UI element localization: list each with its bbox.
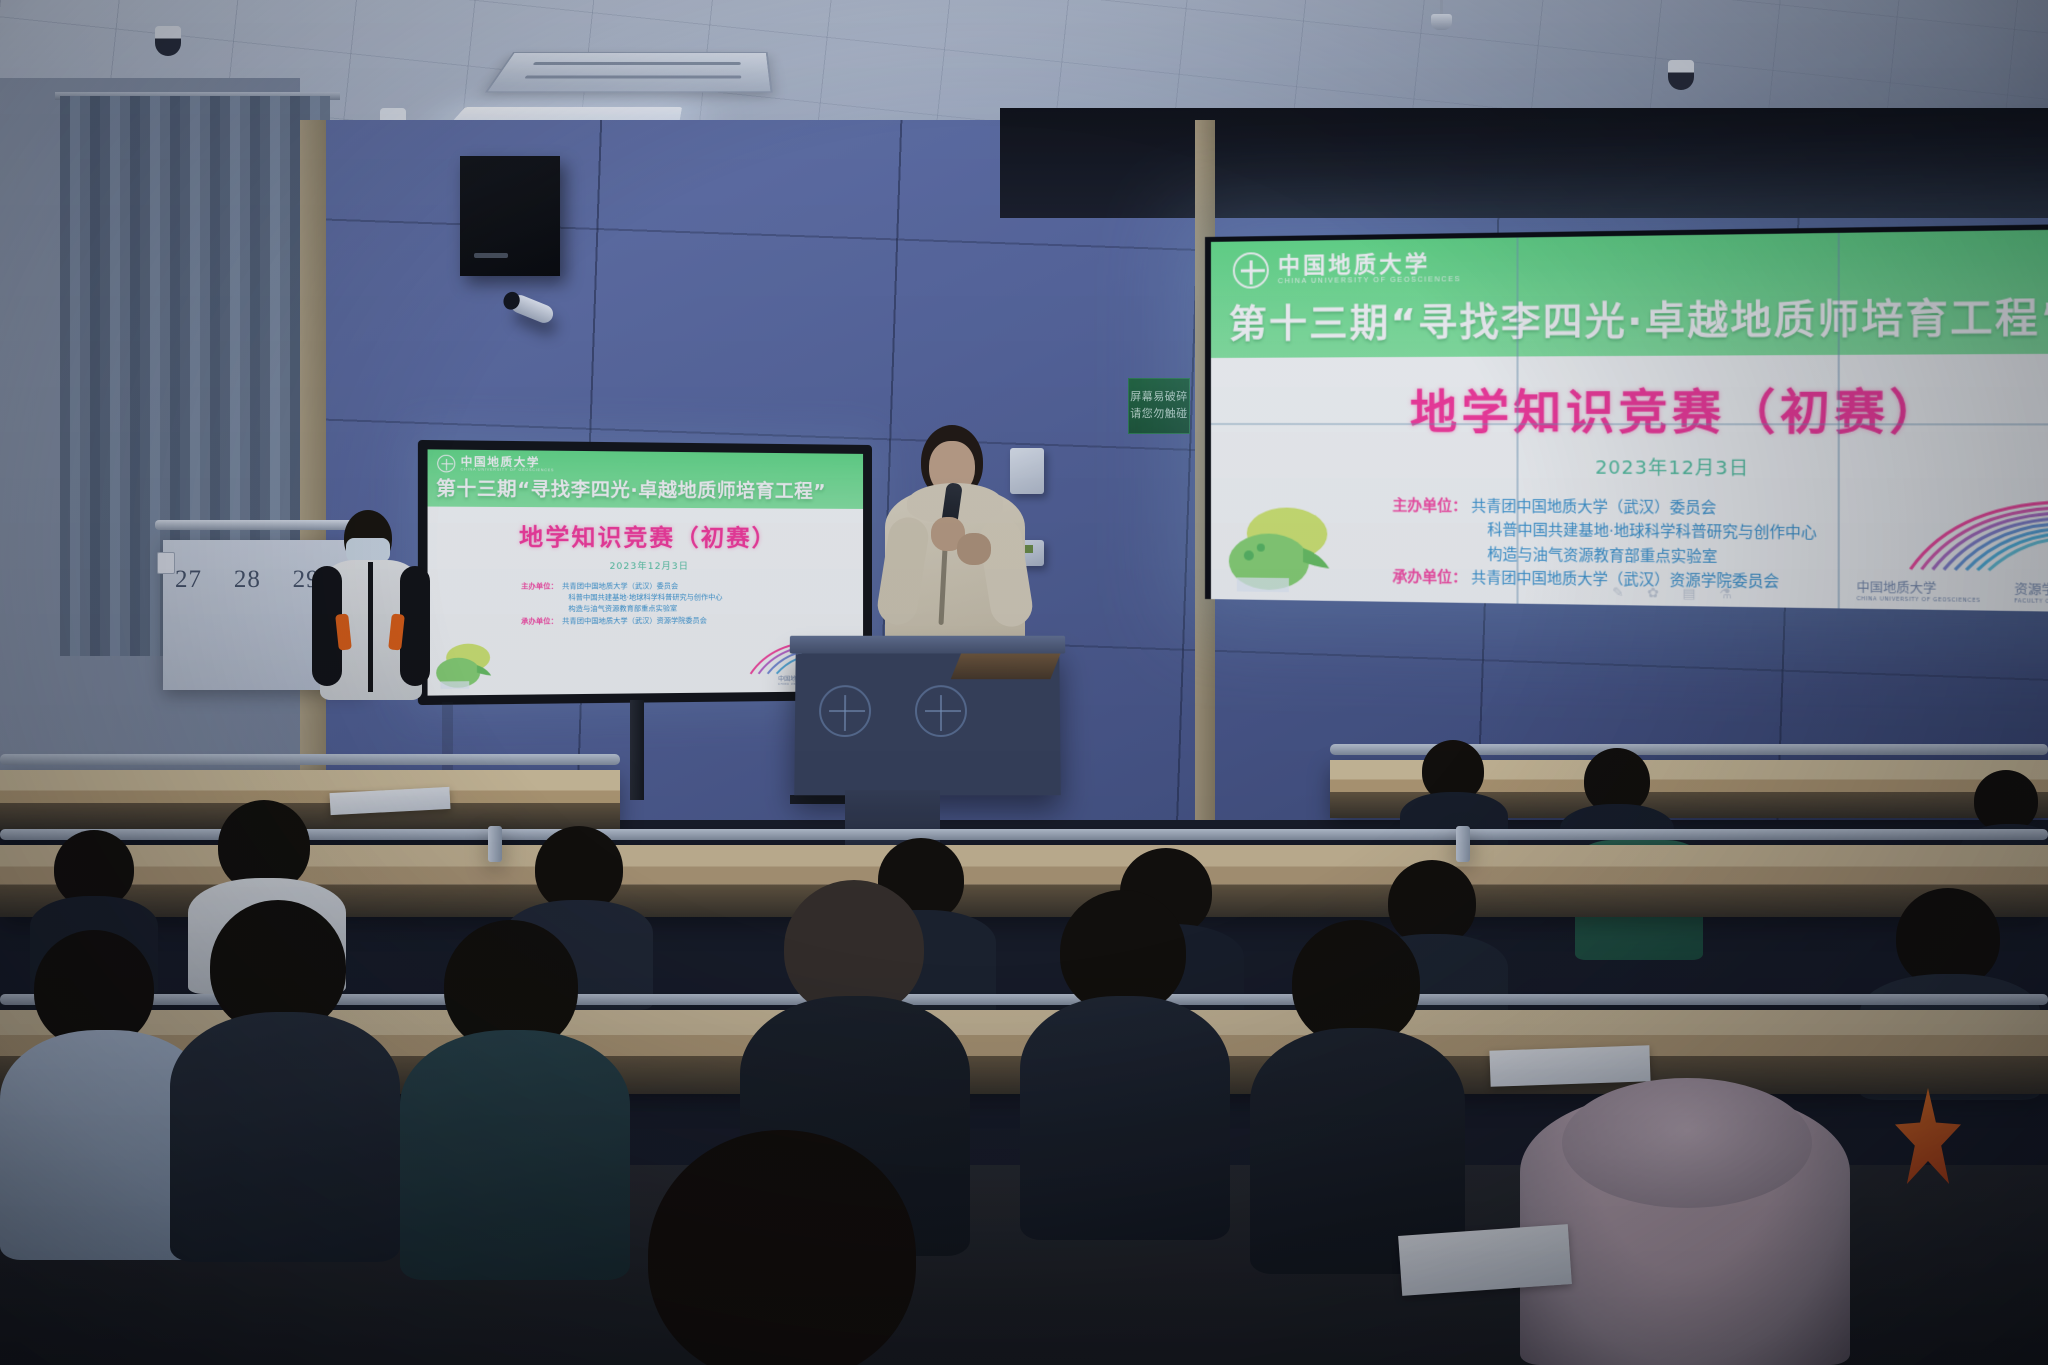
footer-logo-item: 资源学院 FACULTY OF EARTH RESOURCES bbox=[2014, 580, 2048, 606]
presenter-right-hand bbox=[957, 533, 991, 565]
audience-person bbox=[1020, 890, 1230, 1220]
podium-top-surface bbox=[790, 636, 1066, 654]
wall-speaker-icon bbox=[460, 156, 560, 276]
organizer-value: 共青团中国地质大学（武汉）资源学院委员会 bbox=[562, 615, 707, 627]
wall-trim-left bbox=[300, 120, 326, 820]
organizer-label: 承办单位： bbox=[1392, 567, 1467, 592]
desk-post bbox=[488, 826, 502, 862]
university-logo: 中国地质大学 CHINA UNIVERSITY OF GEOSCIENCES bbox=[1211, 235, 2048, 291]
slide-green-header: 中国地质大学 CHINA UNIVERSITY OF GEOSCIENCES 第… bbox=[1211, 228, 2048, 358]
slide-decoration-icons: ✎ ✿ ▤ ⚗ bbox=[1612, 584, 1732, 602]
atom-icon: ✿ bbox=[1647, 585, 1659, 602]
photo-scene: 屏幕易破碎 请您勿触碰 中国地质大学 CHINA UNIVERSITY OF G… bbox=[0, 0, 2048, 1365]
flask-icon: ⚗ bbox=[1719, 586, 1732, 603]
organizer-label: 主办单位： bbox=[1392, 495, 1467, 519]
slide-date: 2023年12月3日 bbox=[1211, 452, 2048, 483]
university-crest-icon bbox=[437, 455, 455, 473]
audience-person bbox=[1250, 920, 1465, 1250]
jacket-zipper bbox=[368, 562, 373, 692]
volunteer-right-sleeve bbox=[400, 566, 430, 686]
upper-dark-band bbox=[1000, 108, 2048, 218]
footer-logo-en: FACULTY OF EARTH RESOURCES bbox=[2014, 598, 2048, 606]
pendant-speaker-icon bbox=[1440, 0, 1443, 16]
standing-volunteer bbox=[320, 510, 430, 705]
organizer-label: 主办单位： bbox=[521, 581, 558, 593]
dinosaur-mascot-icon bbox=[434, 641, 500, 691]
organizer-block: 主办单位： 共青团中国地质大学（武汉）委员会 科普中国共建基地·地球科学科普研究… bbox=[428, 581, 864, 628]
slide-body: 地学知识竞赛（初赛） 2023年12月3日 主办单位： 共青团中国地质大学（武汉… bbox=[1211, 353, 2048, 613]
university-crest-icon bbox=[1233, 252, 1269, 289]
whiteboard-clip bbox=[157, 552, 175, 574]
logo-english-name: CHINA UNIVERSITY OF GEOSCIENCES bbox=[1278, 276, 1461, 285]
presentation-slide: 中国地质大学 CHINA UNIVERSITY OF GEOSCIENCES 第… bbox=[1211, 228, 2048, 613]
sign-line-1: 屏幕易破碎 bbox=[1130, 389, 1188, 406]
organizer-value: 科普中国共建基地·地球科学科普研究与创作中心 bbox=[521, 592, 863, 604]
slide-date: 2023年12月3日 bbox=[428, 558, 864, 572]
pen-icon: ✎ bbox=[1612, 584, 1624, 601]
book-icon: ▤ bbox=[1682, 585, 1695, 602]
video-wall-seam bbox=[1516, 237, 1518, 603]
whiteboard-number: 28 bbox=[234, 566, 261, 594]
organizer-row: 主办单位： 共青团中国地质大学（武汉）委员会 bbox=[521, 581, 863, 593]
screen-warning-sign: 屏幕易破碎 请您勿触碰 bbox=[1128, 378, 1190, 434]
lectern-podium bbox=[794, 646, 1061, 796]
audience-person bbox=[170, 900, 400, 1230]
presenter-student bbox=[885, 425, 1030, 660]
footer-logos: 中国地质大学 CHINA UNIVERSITY OF GEOSCIENCES 资… bbox=[1856, 578, 2048, 606]
footer-logo-en: CHINA UNIVERSITY OF GEOSCIENCES bbox=[1856, 596, 1980, 604]
wave-graphic-icon bbox=[1902, 480, 2048, 580]
desk-rail bbox=[0, 754, 620, 765]
sign-line-2: 请您勿触碰 bbox=[1130, 406, 1188, 423]
slide-banner-title: 第十三期“寻找李四光·卓越地质师培育工程” bbox=[428, 473, 864, 509]
slide-main-title: 地学知识竞赛（初赛） bbox=[1211, 373, 2048, 444]
paper-stack bbox=[1489, 1045, 1650, 1087]
organizer-row: 承办单位： 共青团中国地质大学（武汉）资源学院委员会 bbox=[521, 615, 863, 628]
podium-cable-tray bbox=[951, 654, 1061, 680]
desk-post bbox=[1456, 826, 1470, 862]
logo-english-name: CHINA UNIVERSITY OF GEOSCIENCES bbox=[461, 468, 555, 473]
organizer-value: 共青团中国地质大学（武汉）委员会 bbox=[562, 581, 678, 593]
tv-stand-column bbox=[630, 700, 644, 800]
audience-person-foreground bbox=[580, 1130, 1000, 1365]
podium-crest-icon bbox=[915, 685, 967, 737]
fur-hood bbox=[1562, 1078, 1812, 1208]
dome-camera-icon bbox=[1668, 60, 1694, 90]
slide-green-header: 中国地质大学 CHINA UNIVERSITY OF GEOSCIENCES 第… bbox=[428, 449, 864, 509]
dinosaur-mascot-icon bbox=[1225, 503, 1346, 597]
face-mask-icon bbox=[346, 538, 390, 562]
footer-logo-item: 中国地质大学 CHINA UNIVERSITY OF GEOSCIENCES bbox=[1856, 578, 1980, 604]
whiteboard-number: 27 bbox=[175, 566, 202, 594]
organizer-label: 承办单位： bbox=[521, 616, 558, 628]
open-notebook bbox=[1398, 1224, 1572, 1296]
logo-chinese-name: 中国地质大学 bbox=[461, 456, 555, 469]
slide-main-title: 地学知识竞赛（初赛） bbox=[428, 517, 864, 553]
dome-camera-icon bbox=[155, 26, 181, 56]
ac-vent-icon bbox=[485, 52, 773, 93]
footer-logo-cn: 中国地质大学 bbox=[1856, 580, 1936, 596]
logo-chinese-name: 中国地质大学 bbox=[1278, 253, 1461, 279]
main-video-wall-screen[interactable]: 中国地质大学 CHINA UNIVERSITY OF GEOSCIENCES 第… bbox=[1205, 223, 2048, 614]
organizer-value: 共青团中国地质大学（武汉）委员会 bbox=[1471, 496, 1716, 522]
slide-banner-title: 第十三期“寻找李四光·卓越地质师培育工程” bbox=[1211, 281, 2048, 358]
footer-logo-cn: 资源学院 bbox=[2014, 582, 2048, 598]
video-wall-seam bbox=[1838, 233, 1840, 609]
podium-crest-icon bbox=[819, 685, 871, 737]
